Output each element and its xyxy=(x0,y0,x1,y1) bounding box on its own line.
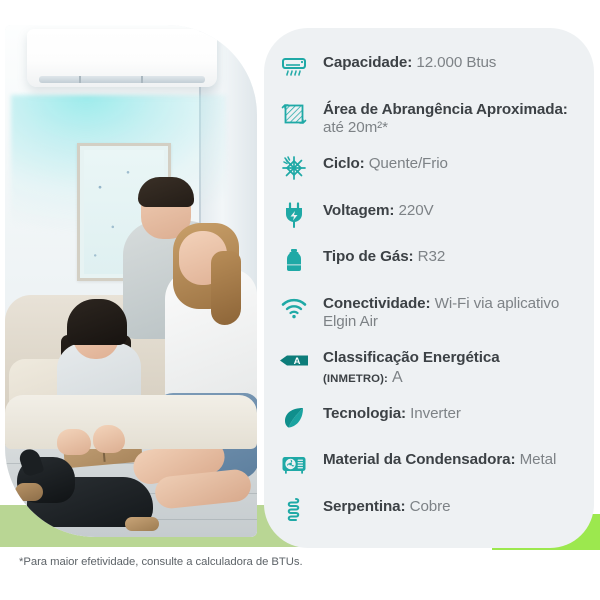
air-conditioner-icon xyxy=(278,51,310,83)
spec-value: 220V xyxy=(399,202,434,219)
spec-row-conectividade: Conectividade: Wi-Fi via aplicativo Elgi… xyxy=(278,291,578,333)
spec-row-serpentina: Serpentina: Cobre xyxy=(278,494,578,528)
daughter-hair xyxy=(67,299,127,345)
spec-text-capacidade: Capacidade: 12.000 Btus xyxy=(323,51,496,73)
spec-label: Tecnologia: xyxy=(323,405,406,422)
child-foot xyxy=(57,429,91,455)
infographic-canvas: Capacidade: 12.000 Btus xyxy=(0,0,600,600)
spec-label: Ciclo: xyxy=(323,155,365,172)
spec-value: Cobre xyxy=(410,498,451,515)
spec-text-voltagem: Voltagem: 220V xyxy=(323,199,434,221)
spec-row-tecnologia: Tecnologia: Inverter xyxy=(278,401,578,435)
father-hair xyxy=(138,177,194,207)
spec-row-ciclo: Ciclo: Quente/Frio xyxy=(278,151,578,185)
leaf-icon xyxy=(278,402,310,434)
footnote-text: *Para maior efetividade, consulte a calc… xyxy=(19,556,303,568)
spec-value: A xyxy=(392,369,403,386)
spec-sublabel: (INMETRO): xyxy=(323,373,388,385)
energy-label-icon: A xyxy=(278,346,310,378)
spec-label: Tipo de Gás: xyxy=(323,248,414,265)
coil-icon xyxy=(278,495,310,527)
wifi-icon xyxy=(278,292,310,324)
spec-row-classificacao-energetica: A Classificação Energética (INMETRO): A xyxy=(278,345,578,388)
spec-value: Quente/Frio xyxy=(369,155,448,172)
split-air-conditioner-unit xyxy=(27,29,217,87)
spec-value: Metal xyxy=(520,451,557,468)
specifications-card: Capacidade: 12.000 Btus xyxy=(264,28,594,548)
power-plug-icon xyxy=(278,199,310,231)
spec-row-gas: Tipo de Gás: R32 xyxy=(278,244,578,278)
spec-value: R32 xyxy=(418,248,446,265)
mother-hair-strand xyxy=(211,251,241,325)
spec-value: até 20m²* xyxy=(323,119,388,136)
spec-label: Conectividade: xyxy=(323,295,430,312)
condenser-unit-icon xyxy=(278,448,310,480)
spec-row-voltagem: Voltagem: 220V xyxy=(278,198,578,232)
spec-text-material-condensadora: Material da Condensadora: Metal xyxy=(323,448,556,470)
spec-row-material-condensadora: Material da Condensadora: Metal xyxy=(278,447,578,481)
spec-text-gas: Tipo de Gás: R32 xyxy=(323,245,445,267)
spec-value: 12.000 Btus xyxy=(416,54,496,71)
spec-value: Inverter xyxy=(410,405,461,422)
spec-text-serpentina: Serpentina: Cobre xyxy=(323,495,450,517)
spec-label: Serpentina: xyxy=(323,498,405,515)
lifestyle-photo xyxy=(5,25,257,537)
hot-cold-cycle-icon xyxy=(278,152,310,184)
specifications-list: Capacidade: 12.000 Btus xyxy=(264,28,594,548)
ac-air-vent xyxy=(39,76,205,83)
spec-text-ciclo: Ciclo: Quente/Frio xyxy=(323,152,448,174)
spec-label: Classificação Energética xyxy=(323,349,500,366)
spec-text-classificacao-energetica: Classificação Energética (INMETRO): A xyxy=(323,346,500,387)
child-foot xyxy=(93,425,125,453)
spec-label: Área de Abrangência Aproximada: xyxy=(323,101,568,118)
spec-label: Voltagem: xyxy=(323,202,394,219)
spec-row-area: Área de Abrangência Aproximada: até 20m²… xyxy=(278,97,578,139)
spec-text-tecnologia: Tecnologia: Inverter xyxy=(323,402,461,424)
area-coverage-icon xyxy=(278,98,310,130)
spec-row-capacidade: Capacidade: 12.000 Btus xyxy=(278,50,578,84)
gas-cylinder-icon xyxy=(278,245,310,277)
spec-text-area: Área de Abrangência Aproximada: até 20m²… xyxy=(323,98,578,138)
spec-label: Capacidade: xyxy=(323,54,412,71)
spec-text-conectividade: Conectividade: Wi-Fi via aplicativo Elgi… xyxy=(323,292,578,332)
sofa-seat xyxy=(5,395,257,449)
ac-vent-divider xyxy=(141,76,143,83)
photo-scene xyxy=(5,25,257,537)
dog-snout xyxy=(15,483,43,501)
spec-label: Material da Condensadora: xyxy=(323,451,515,468)
dog-paw xyxy=(125,517,159,531)
ac-vent-divider xyxy=(79,76,81,83)
energy-badge-letter: A xyxy=(294,356,301,367)
